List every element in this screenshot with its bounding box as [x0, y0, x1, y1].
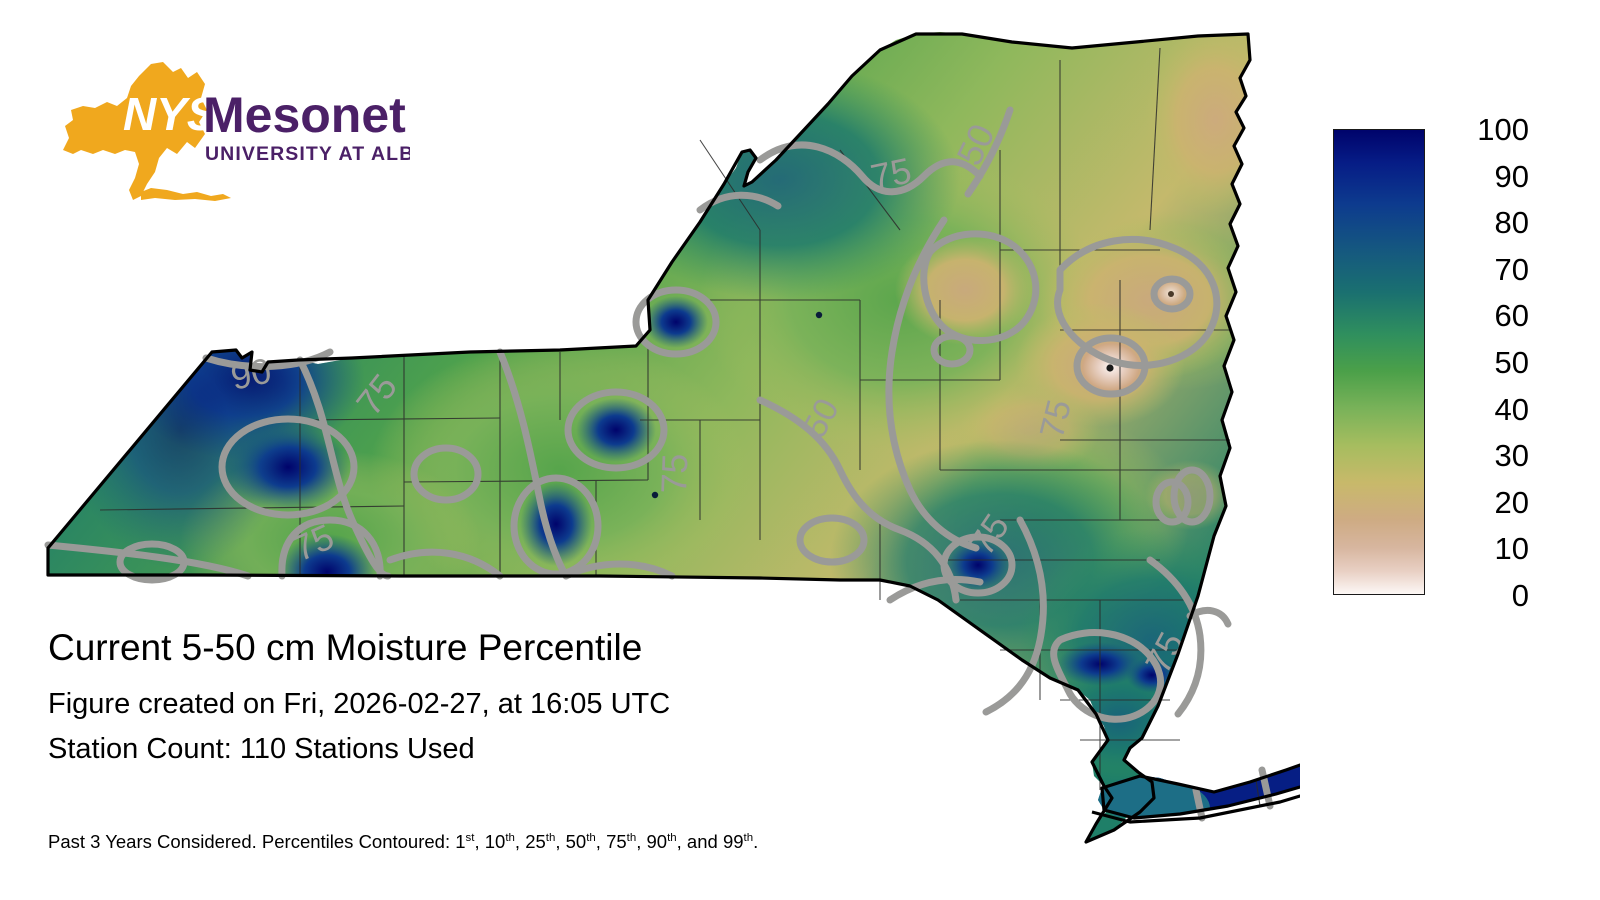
page-title: Current 5-50 cm Moisture Percentile [48, 625, 1048, 671]
footnote-percentile-99: 99 [723, 831, 744, 852]
colorbar-tick-30: 30 [1433, 440, 1529, 471]
colorbar-tick-80: 80 [1433, 207, 1529, 238]
footnote-separator: , [555, 831, 565, 852]
colorbar-tick-70: 70 [1433, 254, 1529, 285]
footnote-ordinal-suffix: th [627, 832, 637, 844]
contour-label: 75 [653, 453, 695, 494]
colorbar-tick-labels: 1009080706050403020100 [1433, 129, 1553, 595]
station-count-text: Station Count: 110 Stations Used [48, 729, 1048, 769]
colorbar-tick-20: 20 [1433, 487, 1529, 518]
footnote-ordinal-suffix: th [546, 832, 556, 844]
footnote-lead: Past 3 Years Considered. Percentiles Con… [48, 831, 455, 852]
footnote-percentile-90: 90 [647, 831, 668, 852]
station-marker [816, 312, 822, 318]
footnote-separator: , and [677, 831, 723, 852]
colorbar-tick-100: 100 [1433, 114, 1529, 145]
colorbar-gradient [1333, 129, 1425, 595]
footnote-ordinal-suffix: th [667, 832, 677, 844]
footnote-separator: , [596, 831, 606, 852]
footnote-percentile-25: 25 [525, 831, 546, 852]
colorbar-tick-40: 40 [1433, 394, 1529, 425]
created-timestamp: Figure created on Fri, 2026-02-27, at 16… [48, 684, 1048, 724]
footnote-separator: , [474, 831, 484, 852]
contour-label: 75 [867, 149, 915, 197]
station-marker [1106, 364, 1113, 371]
colorbar-tick-60: 60 [1433, 300, 1529, 331]
footnote-ordinal-suffix: th [586, 832, 596, 844]
station-marker [1168, 291, 1174, 297]
colorbar-tick-90: 90 [1433, 161, 1529, 192]
footnote-ordinal-suffix: th [505, 832, 515, 844]
colorbar-tick-50: 50 [1433, 347, 1529, 378]
colorbar-tick-10: 10 [1433, 533, 1529, 564]
footnote-percentile-1: 1 [455, 831, 465, 852]
footnote-ordinal-suffix: th [744, 832, 754, 844]
colorbar: 1009080706050403020100 [1333, 129, 1573, 599]
footnote-percentile-50: 50 [566, 831, 587, 852]
footnote-percentile-10: 10 [485, 831, 506, 852]
figure-canvas: NYS Mesonet UNIVERSITY AT ALBANY [0, 0, 1600, 900]
caption-block: Current 5-50 cm Moisture Percentile Figu… [48, 625, 1048, 769]
station-marker [652, 492, 658, 498]
footnote-separator: , [636, 831, 646, 852]
footnote-separator: . [753, 831, 758, 852]
footnote-separator: , [515, 831, 525, 852]
colorbar-tick-0: 0 [1433, 580, 1529, 611]
footnote-percentile-75: 75 [606, 831, 627, 852]
footnote-text: Past 3 Years Considered. Percentiles Con… [48, 830, 758, 854]
